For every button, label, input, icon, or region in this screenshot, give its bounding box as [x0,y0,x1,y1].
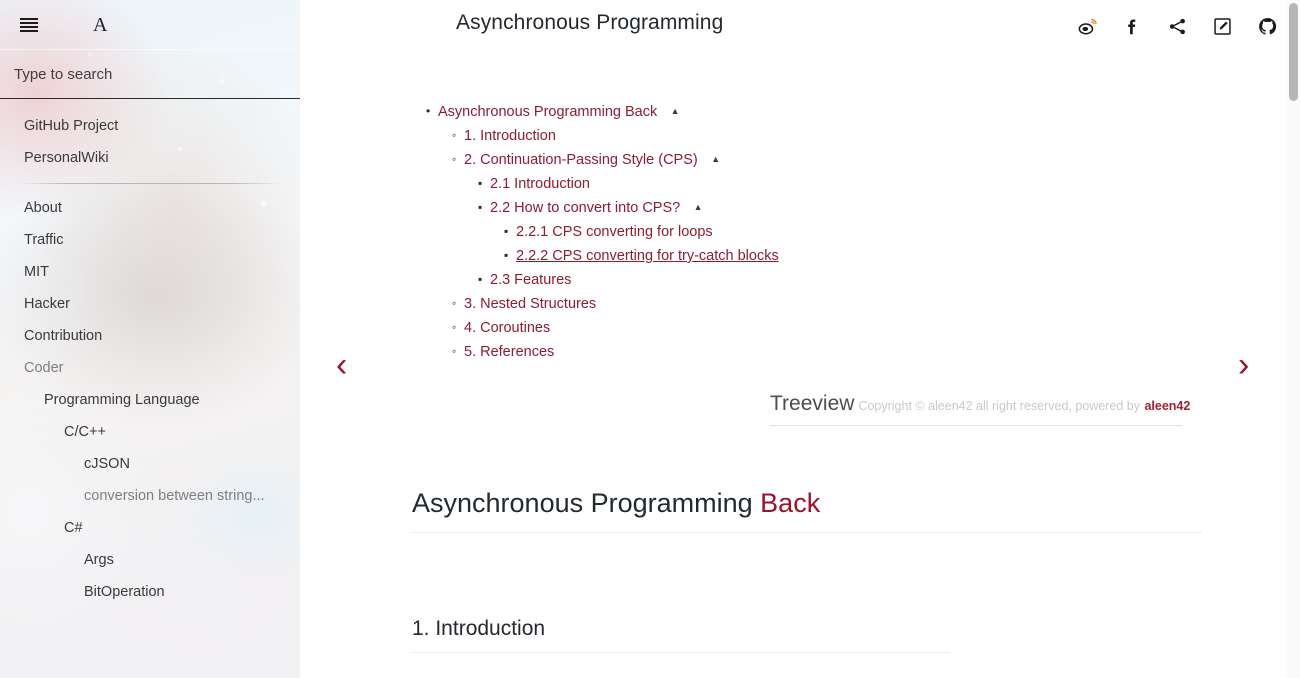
sidebar-divider [18,183,282,184]
sidebar-item-coder[interactable]: Coder [0,352,300,384]
toc-bullet-circle: ◦ [452,124,456,147]
page-root: A GitHub Project PersonalWiki About Traf… [0,0,1300,678]
sidebar-nav: GitHub Project PersonalWiki About Traffi… [0,99,300,608]
toc-link-2-2-2-cps-converting-for-try-catch-blocks[interactable]: 2.2.2 CPS converting for try-catch block… [516,248,779,264]
toc-item: ◦ 3. Nested Structures [412,292,1192,316]
toc-item: ▪ 2.1 Introduction [412,172,1192,196]
toc-link-2-2-1-cps-converting-for-loops[interactable]: 2.2.1 CPS converting for loops [516,224,713,240]
toc-row: ◦ 5. References [412,340,1192,364]
toc-item: ◦ 2. Continuation-Passing Style (CPS) ▲ [412,148,1192,172]
toc-bullet-circle: ◦ [452,316,456,339]
article-heading-2-introduction: 1. Introduction [412,617,950,653]
toc-row: ▪ 2.3 Features [412,268,1192,292]
toc-row: ▪ 2.1 Introduction [412,172,1192,196]
sidebar-item-hacker[interactable]: Hacker [0,288,300,320]
treeview-footer: TreeviewCopyright © aleen42 all right re… [770,392,1182,426]
sidebar: A GitHub Project PersonalWiki About Traf… [0,0,300,678]
site-name: Treeview [770,392,854,415]
toc-row: ▪ 2.2 How to convert into CPS? ▲ [412,196,1192,220]
article-title-back[interactable]: Back [760,488,820,518]
toc-list: • Asynchronous Programming Back ▲ ◦ 1. I… [412,100,1192,364]
toc-link-3-nested-structures[interactable]: 3. Nested Structures [464,296,596,312]
sidebar-item-bitoperation[interactable]: BitOperation [0,576,300,608]
page-title: Asynchronous Programming [456,11,723,35]
toc-link-2-3-features[interactable]: 2.3 Features [490,272,571,288]
sidebar-item-c-cpp[interactable]: C/C++ [0,416,300,448]
sidebar-item-about[interactable]: About [0,192,300,224]
toc-item: ▪ 2.2 How to convert into CPS? ▲ [412,196,1192,220]
sidebar-item-cjson[interactable]: cJSON [0,448,300,480]
copyright-text: Copyright © aleen42 all right reserved, … [858,399,1140,413]
toc-row: ◦ 4. Coroutines [412,316,1192,340]
toc-row: ◦ 3. Nested Structures [412,292,1192,316]
share-icon[interactable] [1167,16,1187,36]
toc-link-2-continuation-passing-style[interactable]: 2. Continuation-Passing Style (CPS) [464,152,698,168]
article-heading-1: Asynchronous Programming Back [412,488,1202,533]
toc-item: ◦ 1. Introduction [412,124,1192,148]
table-of-contents: • Asynchronous Programming Back ▲ ◦ 1. I… [412,100,1192,364]
toc-bullet-square: ▪ [504,244,508,267]
sidebar-item-contribution[interactable]: Contribution [0,320,300,352]
prev-page-arrow-icon[interactable]: ‹ [336,348,347,382]
toc-link-2-1-introduction[interactable]: 2.1 Introduction [490,176,590,192]
toc-row: • Asynchronous Programming Back ▲ [412,100,1192,124]
sidebar-item-github-project[interactable]: GitHub Project [0,110,300,142]
toc-item: ▪ 2.3 Features [412,268,1192,292]
toc-item: ▪ 2.2.2 CPS converting for try-catch blo… [412,244,1192,268]
toc-bullet-square: ▪ [504,220,508,243]
sidebar-group-secondary: About Traffic MIT Hacker Contribution Co… [0,192,300,608]
social-links [1077,16,1277,36]
sidebar-item-personalwiki[interactable]: PersonalWiki [0,142,300,174]
sidebar-toolbar: A [0,0,300,49]
toc-bullet-circle: ◦ [452,148,456,171]
toc-link-asynchronous-programming-back[interactable]: Asynchronous Programming Back [438,104,657,120]
weibo-icon[interactable] [1077,16,1097,36]
toc-link-2-2-how-to-convert-into-cps[interactable]: 2.2 How to convert into CPS? [490,200,680,216]
toc-row: ▪ 2.2.1 CPS converting for loops [412,220,1192,244]
vertical-scrollbar-track[interactable] [1286,0,1300,678]
sidebar-item-traffic[interactable]: Traffic [0,224,300,256]
toc-link-5-references[interactable]: 5. References [464,344,554,360]
facebook-icon[interactable] [1122,16,1142,36]
toc-bullet-square: ▪ [478,196,482,219]
toc-item: ◦ 4. Coroutines [412,316,1192,340]
toc-link-4-coroutines[interactable]: 4. Coroutines [464,320,550,336]
article: Asynchronous Programming Back 1. Introdu… [412,488,1202,653]
toc-bullet-disc: • [426,100,430,123]
github-icon[interactable] [1257,16,1277,36]
sidebar-item-mit[interactable]: MIT [0,256,300,288]
toc-row: ◦ 2. Continuation-Passing Style (CPS) ▲ [412,148,1192,172]
toc-row: ▪ 2.2.2 CPS converting for try-catch blo… [412,244,1192,268]
edit-icon[interactable] [1212,16,1232,36]
toc-bullet-square: ▪ [478,172,482,195]
search-box[interactable] [0,49,300,99]
toc-bullet-circle: ◦ [452,292,456,315]
sidebar-content: A GitHub Project PersonalWiki About Traf… [0,0,300,678]
vertical-scrollbar-thumb[interactable] [1289,3,1298,101]
toc-row: ◦ 1. Introduction [412,124,1192,148]
hamburger-icon[interactable] [20,18,38,32]
toc-caret-up-icon[interactable]: ▲ [694,196,703,219]
toc-caret-up-icon[interactable]: ▲ [671,100,680,123]
toc-bullet-square: ▪ [478,268,482,291]
font-size-icon[interactable]: A [93,15,107,35]
sidebar-item-csharp[interactable]: C# [0,512,300,544]
author-link[interactable]: aleen42 [1144,399,1190,413]
toc-bullet-circle: ◦ [452,340,456,363]
sidebar-item-args[interactable]: Args [0,544,300,576]
toc-caret-up-icon[interactable]: ▲ [711,148,720,171]
toc-link-1-introduction[interactable]: 1. Introduction [464,128,556,144]
toc-item: ◦ 5. References [412,340,1192,364]
toc-item: ▪ 2.2.1 CPS converting for loops [412,220,1192,244]
main-content: Asynchronous Programming [300,0,1300,678]
next-page-arrow-icon[interactable]: › [1238,348,1249,382]
top-bar: Asynchronous Programming [300,0,1300,52]
toc-item: • Asynchronous Programming Back ▲ [412,100,1192,124]
sidebar-item-conversion-between-string[interactable]: conversion between string... [0,480,300,512]
article-title-main: Asynchronous Programming [412,488,753,518]
sidebar-group-primary: GitHub Project PersonalWiki [0,110,300,174]
sidebar-item-programming-language[interactable]: Programming Language [0,384,300,416]
search-input[interactable] [14,66,286,83]
